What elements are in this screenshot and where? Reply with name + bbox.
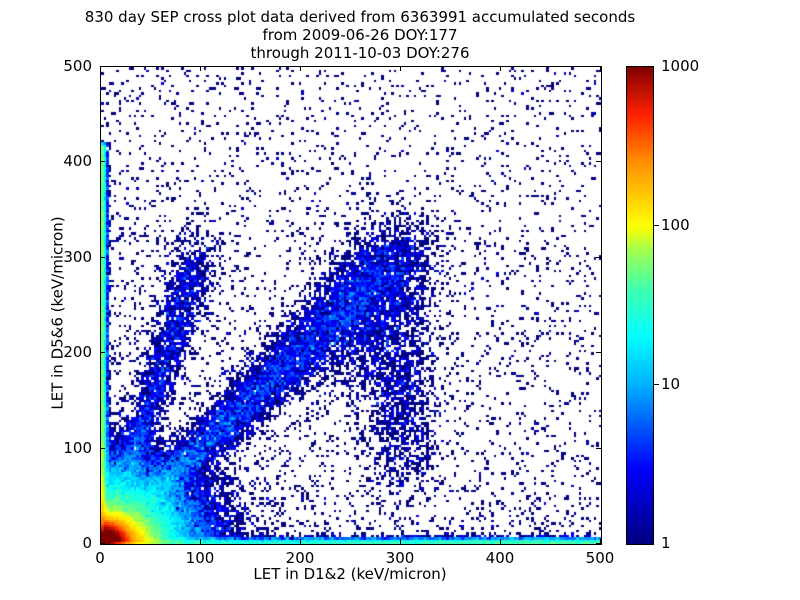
y-tick-0 bbox=[100, 543, 105, 544]
colorbar-tick-10 bbox=[654, 384, 659, 385]
colorbar-gradient bbox=[627, 67, 653, 544]
y-tick-500 bbox=[100, 66, 105, 67]
y-tick-right-0 bbox=[596, 543, 601, 544]
x-tick-200 bbox=[300, 539, 301, 544]
x-tick-top-200 bbox=[300, 66, 301, 71]
y-tick-100 bbox=[100, 448, 105, 449]
y-tick-400 bbox=[100, 161, 105, 162]
plot-area bbox=[100, 66, 602, 545]
y-tick-right-400 bbox=[596, 161, 601, 162]
colorbar-tick-100 bbox=[654, 225, 659, 226]
colorbar-ticklabel-1000: 1000 bbox=[661, 57, 699, 75]
x-tick-400 bbox=[500, 539, 501, 544]
x-tick-top-400 bbox=[500, 66, 501, 71]
x-tick-top-300 bbox=[400, 66, 401, 71]
x-tick-300 bbox=[400, 539, 401, 544]
y-tick-right-300 bbox=[596, 257, 601, 258]
scatter-density-canvas bbox=[101, 67, 601, 544]
colorbar-ticklabel-100: 100 bbox=[661, 216, 690, 234]
title-line-3: through 2011-10-03 DOY:276 bbox=[0, 44, 720, 62]
x-tick-top-100 bbox=[200, 66, 201, 71]
colorbar-ticklabel-1: 1 bbox=[661, 534, 671, 552]
y-axis-label: LET in D5&6 (keV/micron) bbox=[49, 75, 67, 552]
y-tick-300 bbox=[100, 257, 105, 258]
title-line-2: from 2009-06-26 DOY:177 bbox=[0, 26, 720, 44]
x-axis-label: LET in D1&2 (keV/micron) bbox=[100, 565, 600, 583]
y-tick-200 bbox=[100, 352, 105, 353]
colorbar bbox=[626, 66, 654, 545]
y-tick-right-200 bbox=[596, 352, 601, 353]
colorbar-ticklabel-10: 10 bbox=[661, 375, 680, 393]
chart-title: 830 day SEP cross plot data derived from… bbox=[0, 8, 720, 62]
x-tick-100 bbox=[200, 539, 201, 544]
y-tick-right-500 bbox=[596, 66, 601, 67]
y-tick-right-100 bbox=[596, 448, 601, 449]
y-ticklabel-500: 500 bbox=[42, 57, 92, 75]
title-line-1: 830 day SEP cross plot data derived from… bbox=[0, 8, 720, 26]
